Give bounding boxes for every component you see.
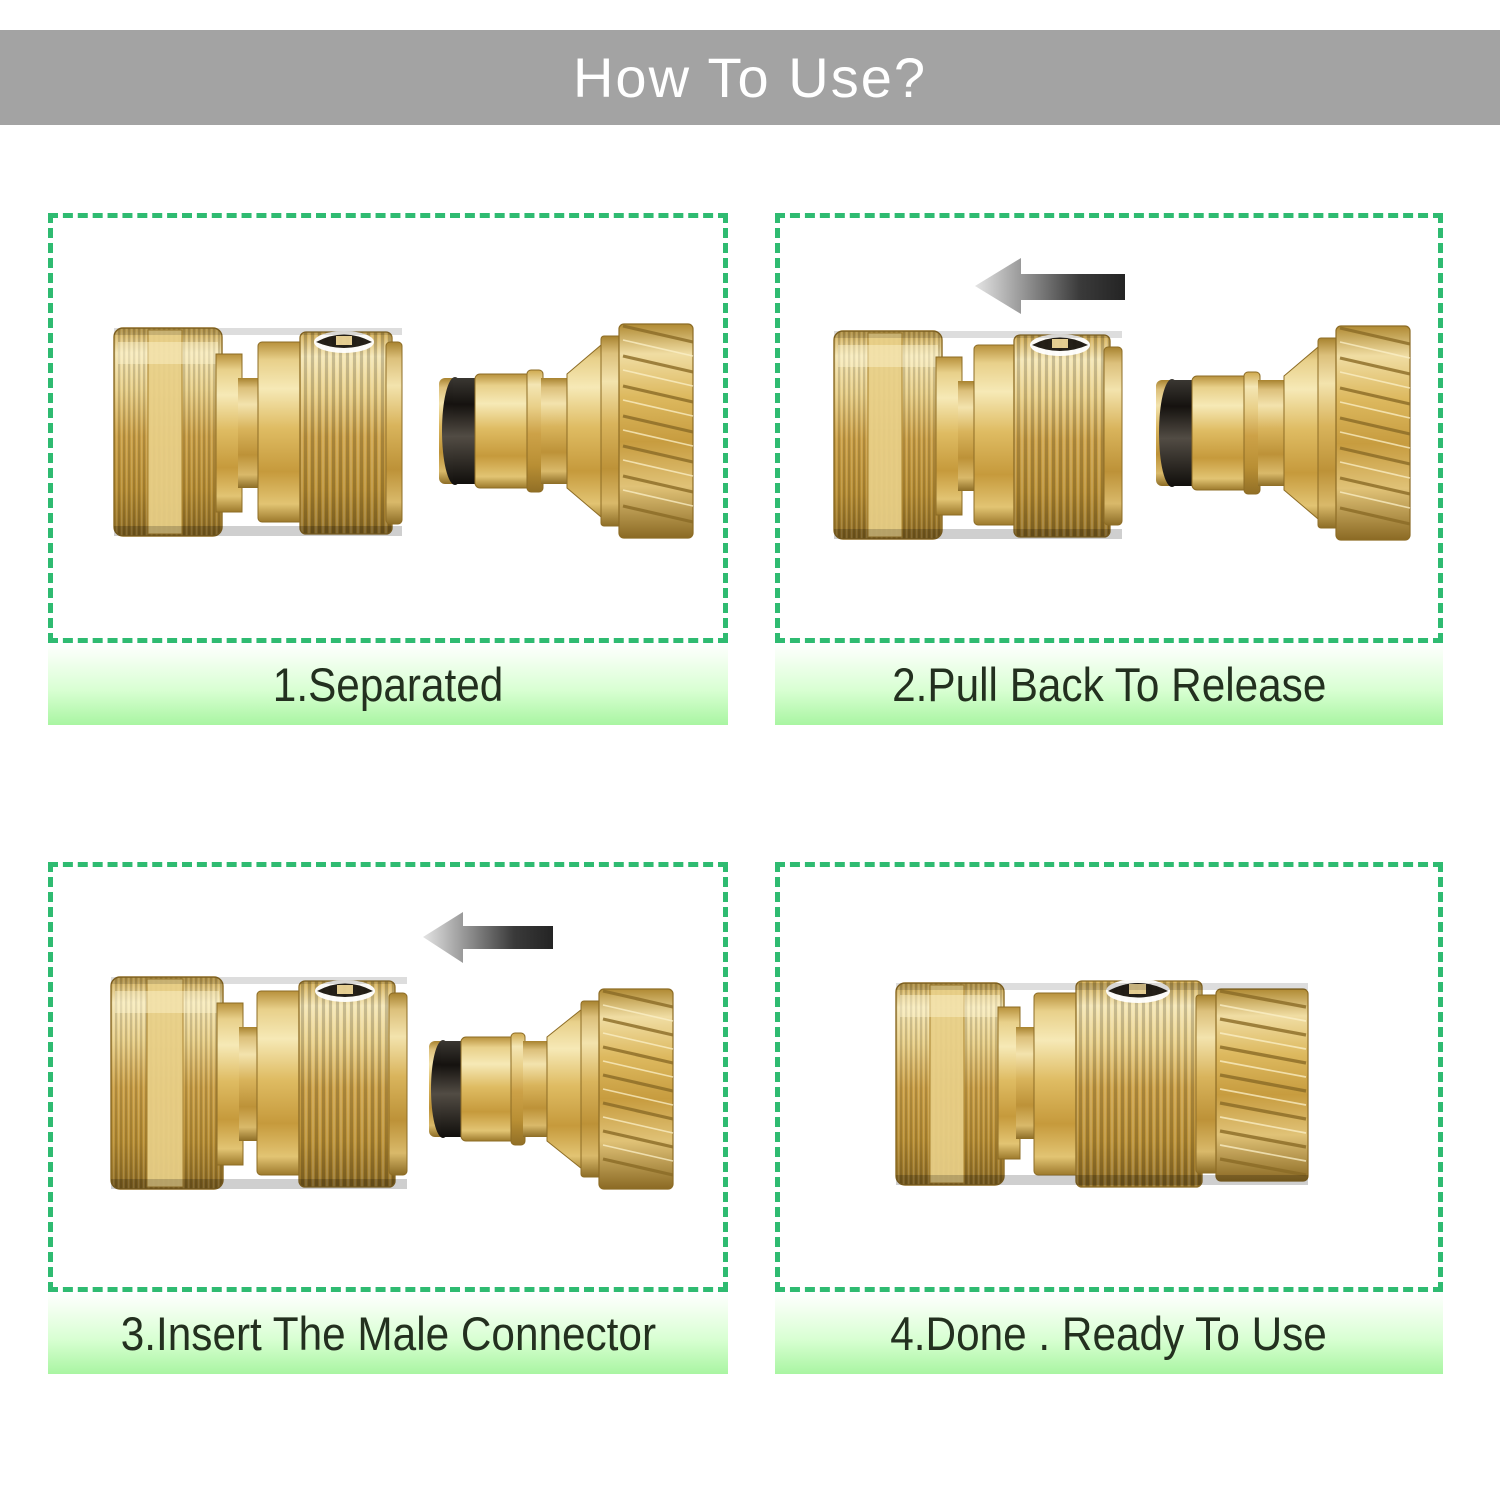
panel-3-caption: 3.Insert The Male Connector (48, 1292, 728, 1374)
thread-head (1216, 989, 1308, 1181)
female-quick-connector-part (105, 967, 415, 1199)
brand-marking-icon (1106, 979, 1170, 1003)
header-bar: How To Use? (0, 30, 1500, 125)
thread-head (1336, 326, 1410, 540)
panel-2-caption-text: 2.Pull Back To Release (892, 661, 1326, 708)
female-quick-connector-part (108, 320, 408, 545)
panel-4-caption: 4.Done . Ready To Use (775, 1292, 1443, 1374)
panel-2-caption: 2.Pull Back To Release (775, 643, 1443, 725)
arrow-left-icon (423, 909, 553, 965)
thread-head (599, 989, 673, 1189)
arrow-left-icon (975, 256, 1125, 316)
panel-3-caption-text: 3.Insert The Male Connector (120, 1310, 655, 1357)
assembled-connector-part (890, 965, 1340, 1201)
male-hose-connector-part (421, 979, 685, 1197)
panel-4-caption-text: 4.Done . Ready To Use (891, 1310, 1328, 1357)
male-hose-connector-part (1148, 314, 1418, 552)
thread-head (619, 324, 693, 538)
panel-1-caption: 1.Separated (48, 643, 728, 725)
panel-4-illustration-box (775, 862, 1443, 1292)
page-title: How To Use? (573, 50, 927, 106)
panel-1-illustration-box (48, 213, 728, 643)
male-hose-connector-part (431, 312, 701, 550)
panel-3-illustration-box (48, 862, 728, 1292)
panel-2-illustration-box (775, 213, 1443, 643)
panel-1-caption-text: 1.Separated (273, 661, 503, 708)
female-quick-connector-part (828, 323, 1128, 548)
